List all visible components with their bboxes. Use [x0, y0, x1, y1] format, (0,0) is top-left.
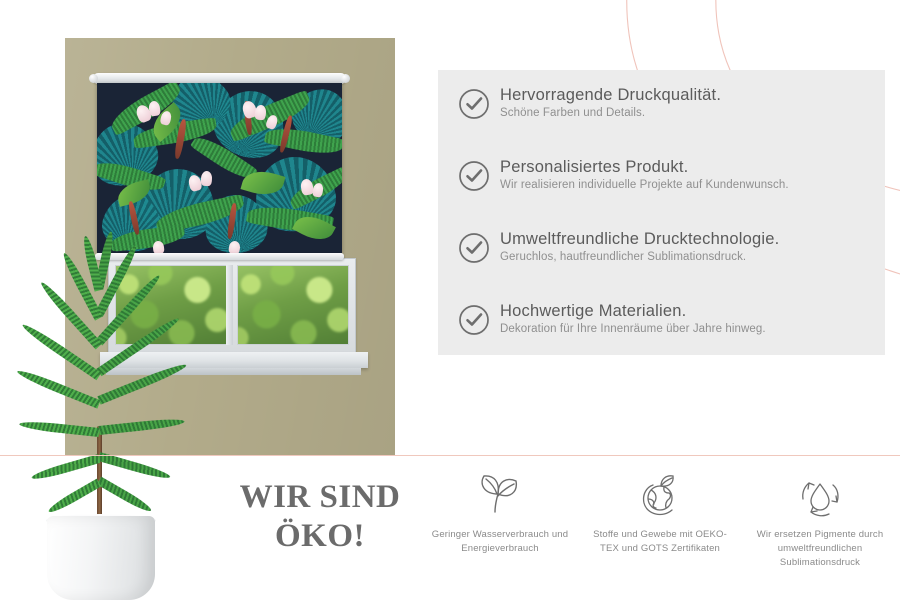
- feature-item: Umweltfreundliche Drucktechnologie. Geru…: [458, 230, 878, 280]
- eco-headline: WIR SIND ÖKO!: [205, 478, 435, 556]
- promo-banner: Hervorragende Druckqualität. Schöne Farb…: [0, 0, 900, 600]
- eco-benefit: Geringer Wasserverbrauch und Energieverb…: [420, 470, 580, 595]
- feature-item: Personalisiertes Produkt. Wir realisiere…: [458, 158, 878, 208]
- feature-subtitle: Wir realisieren individuelle Projekte au…: [500, 179, 878, 193]
- feature-item: Hervorragende Druckqualität. Schöne Farb…: [458, 86, 878, 136]
- eco-benefit: Wir ersetzen Pigmente durch umweltfreund…: [740, 470, 900, 595]
- plant-pot: [47, 516, 155, 600]
- roller-blind: [97, 73, 342, 261]
- check-circle-icon: [458, 160, 490, 192]
- features-list: Hervorragende Druckqualität. Schöne Farb…: [458, 86, 878, 374]
- eco-benefits-list: Geringer Wasserverbrauch und Energieverb…: [420, 470, 900, 595]
- roller-blind-fabric: [97, 83, 342, 253]
- eco-headline-line2: ÖKO!: [205, 517, 435, 556]
- roller-blind-cap-left: [89, 74, 98, 83]
- eco-benefit-caption: Stoffe und Gewebe mit OEKO-TEX und GOTS …: [585, 528, 735, 556]
- two-leaves-icon: [473, 470, 527, 520]
- window-mullion: [226, 265, 233, 345]
- check-circle-icon: [458, 304, 490, 336]
- roller-blind-cap-right: [341, 74, 350, 83]
- eco-benefit: Stoffe und Gewebe mit OEKO-TEX und GOTS …: [580, 470, 740, 595]
- window-pane-right: [237, 265, 349, 345]
- tropical-pattern: [97, 83, 342, 253]
- plant-trunk: [97, 426, 102, 524]
- feature-title: Umweltfreundliche Drucktechnologie.: [500, 230, 878, 249]
- feature-title: Personalisiertes Produkt.: [500, 158, 878, 177]
- feature-subtitle: Geruchlos, hautfreundlicher Sublimations…: [500, 251, 878, 265]
- feature-title: Hochwertige Materialien.: [500, 302, 878, 321]
- feature-subtitle: Schöne Farben und Details.: [500, 107, 878, 121]
- eco-benefit-caption: Wir ersetzen Pigmente durch umweltfreund…: [745, 528, 895, 569]
- feature-title: Hervorragende Druckqualität.: [500, 86, 878, 105]
- eco-headline-line1: WIR SIND: [205, 478, 435, 517]
- garden-foliage-right: [237, 265, 349, 345]
- feature-item: Hochwertige Materialien. Dekoration für …: [458, 302, 878, 352]
- feature-subtitle: Dekoration für Ihre Innenräume über Jahr…: [500, 323, 878, 337]
- water-drop-recycle-icon: [793, 470, 847, 520]
- potted-palm-plant: [0, 276, 205, 600]
- globe-leaf-icon: [633, 470, 687, 520]
- check-circle-icon: [458, 232, 490, 264]
- accent-divider-line: [0, 455, 900, 456]
- eco-benefit-caption: Geringer Wasserverbrauch und Energieverb…: [425, 528, 575, 556]
- check-circle-icon: [458, 88, 490, 120]
